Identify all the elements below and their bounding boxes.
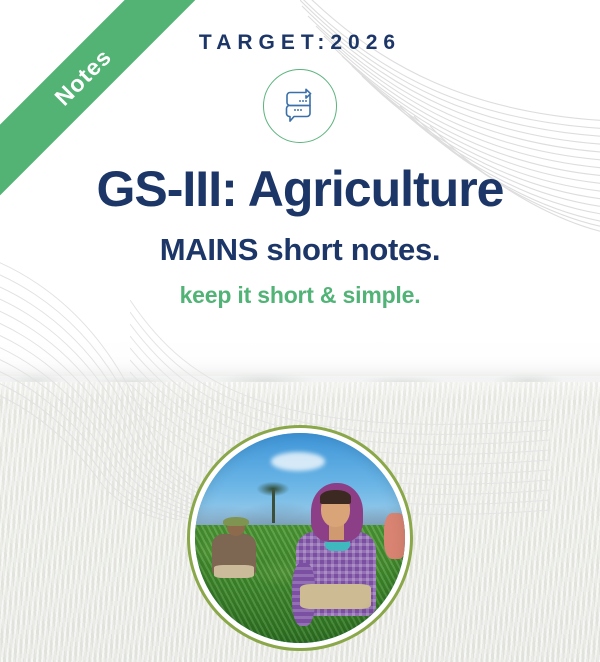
hero-side-figure [384,513,405,559]
hero-background-worker-hat [223,517,248,526]
logo-ring [263,69,337,143]
hero-cloud [271,452,326,471]
chat-bubbles-icon [280,86,320,126]
logo-area [0,69,600,143]
target-year-line: TARGET:2026 [0,31,600,55]
page-title: GS-III: Agriculture [0,160,600,218]
poster-canvas: Notes TARGET:2026 GS-III: Agriculture [0,0,600,662]
hero-foreground-woman-hair [320,490,352,505]
background-top-fade [0,330,600,400]
hero-foreground-woman-sash [300,584,371,609]
hero-photo-inner [195,433,405,643]
hero-background-worker-sash [214,565,254,578]
page-subtitle: MAINS short notes. [0,232,600,268]
poster-content: TARGET:2026 GS-III: Agriculture MAINS sh… [0,0,600,309]
tea-plantation-workers-photo [187,425,413,651]
page-tagline: keep it short & simple. [0,282,600,309]
hero-tree-trunk [272,490,275,524]
